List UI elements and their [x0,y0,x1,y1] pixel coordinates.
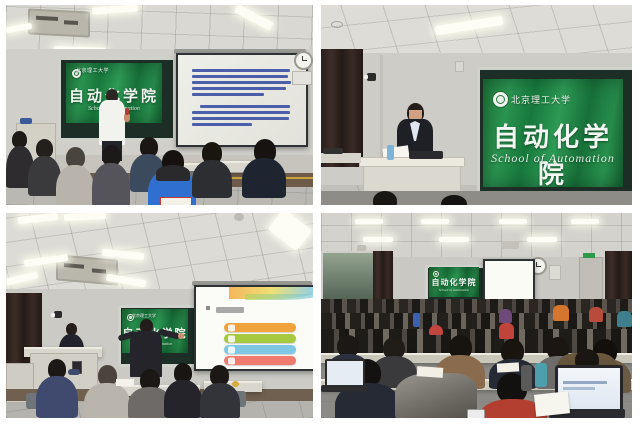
ceiling-light [439,237,469,242]
projector-mount [501,241,519,249]
university-logo-icon [492,91,509,108]
photo-panel-top-right[interactable]: 北京理工大学 自动化学院 School of Automation [321,5,632,205]
banner-university-name: 北京理工大学 [132,313,156,319]
mobile-phone [467,409,485,418]
lectern-equipment [409,151,443,159]
ceiling [6,213,313,291]
draped-coat [395,373,477,418]
photo-collage: 北京理工大学 自动化学院 School of Automation [0,0,640,426]
audience-paper [116,379,134,386]
audience-jacket-purple [499,309,512,323]
audience-body [192,160,232,198]
ceiling-light [363,237,393,242]
slide-text-line [192,111,290,114]
audience-body [242,158,286,198]
desk-object [232,381,239,387]
ceiling-light [355,219,383,224]
speaker-microphone [125,108,129,115]
projection-screen [176,53,308,147]
slide-text-line [200,105,290,108]
cabinet-object [20,118,32,124]
ceiling-light [571,219,599,224]
ceiling-fixture [331,21,343,28]
laptop-screen-line [563,387,595,390]
water-bottle [535,363,547,387]
audience-body [92,163,130,205]
collage-grid: 北京理工大学 自动化学院 School of Automation [6,5,632,418]
ceiling-speaker-icon [234,213,244,221]
papers-stack [497,362,519,372]
laptop-screen-line [563,381,607,384]
agenda-bar-2 [224,334,296,343]
floor [321,191,632,205]
banner-university-name: 北京理工大学 [511,93,571,106]
papers-stack [417,366,444,378]
water-bottle [413,313,420,327]
slide-title-bullet [206,306,210,310]
slide-text-line [192,93,264,96]
slide-text-line [192,87,286,90]
audience-hat-red [429,325,443,335]
wall-clock-icon [294,51,313,70]
side-table [321,153,361,163]
agenda-bar-3 [224,345,296,354]
wall-notice [549,265,561,280]
papers-stack [534,391,570,416]
projection-screen [194,285,313,371]
wall-notice [455,61,464,72]
water-bottle [387,145,394,160]
banner-college-name-en: School of Automation [483,151,623,166]
water-bottle [521,365,532,391]
audience-jacket-teal [617,311,632,327]
ceiling-light [527,237,557,242]
side-table-object [323,148,343,154]
audience-hood [156,165,190,181]
security-camera-icon [54,311,62,318]
photo-panel-top-left[interactable]: 北京理工大学 自动化学院 School of Automation [6,5,313,205]
agenda-bar-4 [224,356,296,365]
banner-college-name: 自动化学院 [429,277,479,288]
college-banner: 自动化学院 School of Automation [429,267,479,297]
banner-university-name: 北京理工大学 [76,67,109,74]
slide-title [216,307,244,313]
audience-body [200,383,240,418]
audience-body [84,383,130,418]
slide-text-line [192,123,252,126]
audience-body [56,165,94,205]
speaker-body [99,100,125,145]
audience-arm [68,369,80,375]
banner-college-name-en: School of Automation [429,288,479,292]
wall-sign [292,71,312,85]
audience-jacket-red [499,323,514,339]
audience-jacket-red [589,307,603,322]
slide-text-line [192,75,288,78]
slide-text-line [192,117,289,120]
audience-body [36,376,78,418]
audience-head [373,191,397,205]
laptop-base [321,385,367,392]
ceiling-light [499,219,527,224]
audience-paper [160,197,192,205]
photo-panel-bottom-left[interactable]: 北京理工大学 自动化学院 School of Automation [6,213,313,418]
audience-jacket-orange [553,305,569,321]
agenda-bar-1 [224,323,296,332]
college-banner: 北京理工大学 自动化学院 School of Automation [483,79,623,187]
presenter-hand [178,333,184,339]
slide-text-line [192,69,290,72]
ceiling [321,5,632,55]
ceiling-light [421,219,449,224]
audience-body [164,380,202,418]
slide-text-line [192,81,291,84]
ac-vent-icon [28,8,90,37]
photo-panel-bottom-right[interactable]: 自动化学院 School of Automation [321,213,632,418]
exit-sign [583,253,595,258]
slide-swoosh [245,294,313,300]
security-camera-icon [367,73,376,81]
